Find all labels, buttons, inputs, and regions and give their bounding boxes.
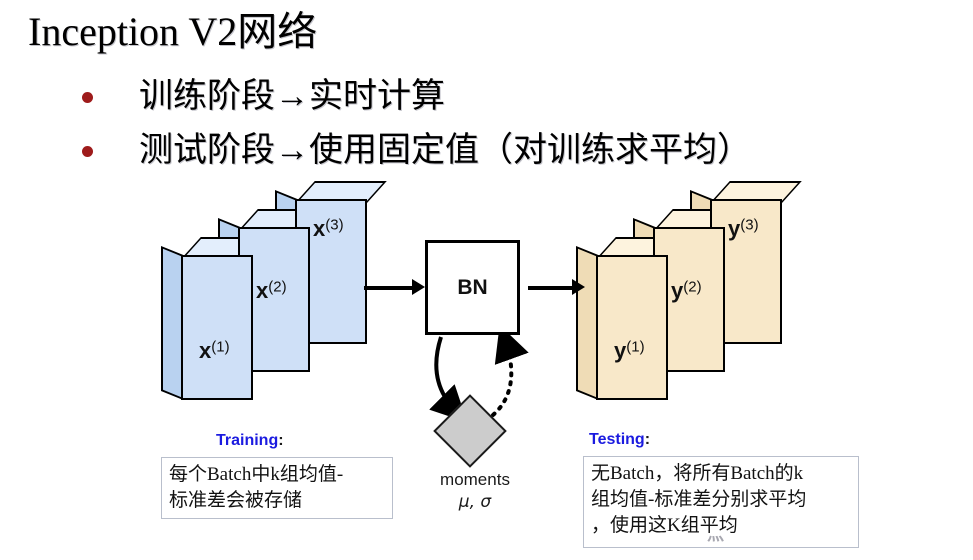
output-slab-label-2: y(2) <box>671 278 702 304</box>
training-heading-text: Training <box>216 432 278 449</box>
slab-label-sup: (1) <box>626 339 644 356</box>
testing-line: 无Batch，将所有Batch的k <box>591 461 851 487</box>
input-arrow-head <box>412 279 425 295</box>
bullet-text: 训练阶段→实时计算 <box>139 76 445 118</box>
output-slab-label-1: y(1) <box>614 338 645 364</box>
output-arrow-head <box>572 279 585 295</box>
slab-label-sup: (3) <box>740 217 758 234</box>
watermark-overlay: 灬 <box>707 520 907 546</box>
training-text-box: 每个Batch中k组均值- 标准差会被存储 <box>161 457 393 519</box>
slab-label-base: y <box>728 216 740 241</box>
bullet-dot-icon <box>82 146 93 157</box>
bn-diagram: x(3) x(2) x(1) <box>0 180 973 430</box>
output-slab-label-3: y(3) <box>728 216 759 242</box>
slab-front-face <box>596 255 668 400</box>
training-heading: Training: <box>216 432 284 450</box>
slab-label-sup: (2) <box>683 279 701 296</box>
input-slab-label-3: x(3) <box>313 216 344 242</box>
slab-label-sup: (2) <box>268 279 286 296</box>
slab-label-base: y <box>671 278 683 303</box>
moments-caption: moments μ, σ <box>390 468 560 514</box>
page-title: Inception V2网络 <box>28 8 317 56</box>
bn-label: BN <box>457 276 487 300</box>
slide-canvas: Inception V2网络 训练阶段→实时计算 测试阶段→使用固定值（对训练求… <box>0 0 973 560</box>
slab-label-sup: (3) <box>325 217 343 234</box>
testing-heading-text: Testing <box>589 431 645 448</box>
slab-side-face <box>161 246 183 400</box>
moments-node <box>433 394 507 468</box>
testing-line: 组均值-标准差分别求平均 <box>591 487 851 513</box>
slab-label-sup: (1) <box>211 339 229 356</box>
training-heading-colon: : <box>278 432 283 449</box>
training-line: 标准差会被存储 <box>169 488 385 514</box>
input-slab-label-1: x(1) <box>199 338 230 364</box>
bn-node: BN <box>425 240 520 335</box>
bullet-item-testing: 测试阶段→使用固定值（对训练求平均） <box>82 130 751 172</box>
slab-front-face <box>181 255 253 400</box>
moments-label: moments <box>390 468 560 491</box>
slab-label-base: x <box>313 216 325 241</box>
slab-label-base: y <box>614 338 626 363</box>
slab-label-base: x <box>199 338 211 363</box>
moments-params: μ, σ <box>390 491 560 514</box>
slab-side-face <box>576 246 598 400</box>
moments-to-bn-arrow <box>493 340 511 415</box>
testing-heading: Testing: <box>589 431 650 449</box>
bullet-dot-icon <box>82 92 93 103</box>
bullet-item-training: 训练阶段→实时计算 <box>82 76 445 118</box>
output-arrow-line <box>528 286 574 290</box>
input-arrow-line <box>364 286 414 290</box>
testing-heading-colon: : <box>645 431 650 448</box>
bn-to-moments-arrow <box>436 337 456 411</box>
slab-label-base: x <box>256 278 268 303</box>
bullet-text: 测试阶段→使用固定值（对训练求平均） <box>139 130 751 172</box>
training-line: 每个Batch中k组均值- <box>169 462 385 488</box>
input-slab-label-2: x(2) <box>256 278 287 304</box>
